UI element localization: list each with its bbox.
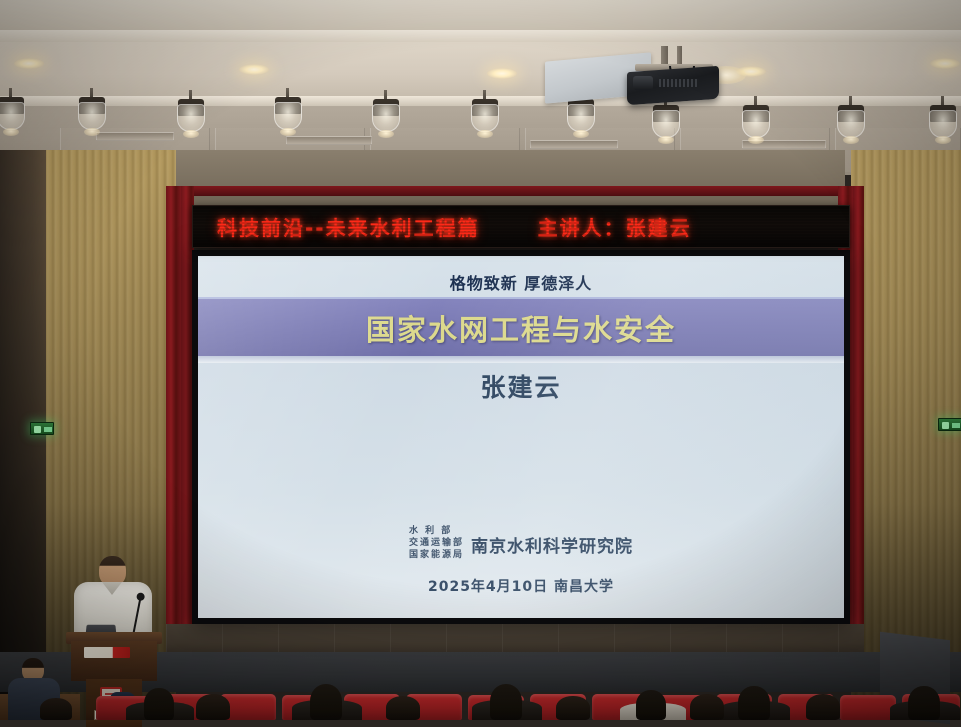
curtain-valance <box>166 186 864 196</box>
audience-seating <box>0 672 961 720</box>
organization-item: 国家能源局 <box>409 550 464 562</box>
audience-head <box>490 684 522 720</box>
organization-item: 交通运输部 <box>409 538 464 550</box>
recessed-downlight <box>930 58 960 69</box>
recessed-downlight <box>239 64 269 75</box>
institute-name: 南京水利科学研究院 <box>471 532 633 557</box>
back-wall <box>155 150 845 210</box>
slide-title: 国家水网工程与水安全 <box>366 307 676 349</box>
led-banner: 科技前沿--未来水利工程篇 主讲人：张建云 <box>192 205 850 248</box>
audience-head <box>310 684 342 720</box>
lecture-hall-scene: 科技前沿--未来水利工程篇 主讲人：张建云 格物致新 厚德泽人 国家水网工程与水… <box>0 0 961 720</box>
seat <box>840 695 896 720</box>
organization-row: 水 利 部 交通运输部 国家能源局 南京水利科学研究院 <box>409 526 633 562</box>
slide-title-band: 国家水网工程与水安全 <box>198 297 844 356</box>
recessed-downlight <box>487 68 517 79</box>
recessed-downlight <box>14 58 44 69</box>
ceiling-soffit <box>0 42 961 96</box>
audience-head <box>556 696 590 720</box>
slide-footer: 水 利 部 交通运输部 国家能源局 南京水利科学研究院 2025年4月10日 南… <box>198 526 844 596</box>
organization-item: 水 利 部 <box>409 526 452 538</box>
projection-screen: 格物致新 厚德泽人 国家水网工程与水安全 张建云 水 利 部 交通运输部 国家能… <box>192 250 850 624</box>
slide-date-venue: 2025年4月10日 南昌大学 <box>428 576 614 596</box>
pendant-spotlight <box>176 90 206 136</box>
led-banner-speaker: 主讲人：张建云 <box>538 212 692 241</box>
audience-head <box>908 686 940 720</box>
pendant-spotlight <box>0 88 26 134</box>
pendant-spotlight <box>77 88 107 134</box>
pendant-spotlight <box>273 88 303 134</box>
ceiling-vent <box>286 136 372 145</box>
presentation-slide: 格物致新 厚德泽人 国家水网工程与水安全 张建云 水 利 部 交通运输部 国家能… <box>198 256 844 618</box>
slide-motto: 格物致新 厚德泽人 <box>198 270 844 294</box>
audience-head <box>386 696 420 720</box>
pendant-spotlight <box>928 96 958 142</box>
audience-head <box>636 690 666 720</box>
left-wall-dark-recess <box>0 150 46 720</box>
audience-head <box>40 698 72 720</box>
ceiling-vent <box>96 132 174 141</box>
organization-list: 水 利 部 交通运输部 国家能源局 <box>409 526 464 562</box>
pendant-spotlight <box>371 90 401 136</box>
audience-head <box>806 694 840 720</box>
exit-sign-left <box>30 422 54 435</box>
audience-head <box>738 686 770 720</box>
ceiling-vent <box>530 140 618 149</box>
audience-head <box>690 694 724 720</box>
ceiling-projector <box>625 46 721 108</box>
projector-lens <box>633 76 653 90</box>
podium-university-logo <box>84 647 130 658</box>
led-banner-title: 科技前沿--未来水利工程篇 <box>217 212 480 241</box>
ceiling <box>0 0 961 175</box>
ceiling-trim-upper <box>0 30 961 42</box>
audience-head <box>144 688 174 720</box>
ceiling-band-top <box>0 0 961 30</box>
title-band-edge <box>198 356 844 363</box>
slide-speaker-name: 张建云 <box>198 368 844 404</box>
audience-head <box>196 694 230 720</box>
exit-sign-right <box>938 418 961 431</box>
pendant-spotlight <box>836 96 866 142</box>
pendant-spotlight <box>470 90 500 136</box>
pendant-spotlight <box>741 96 771 142</box>
